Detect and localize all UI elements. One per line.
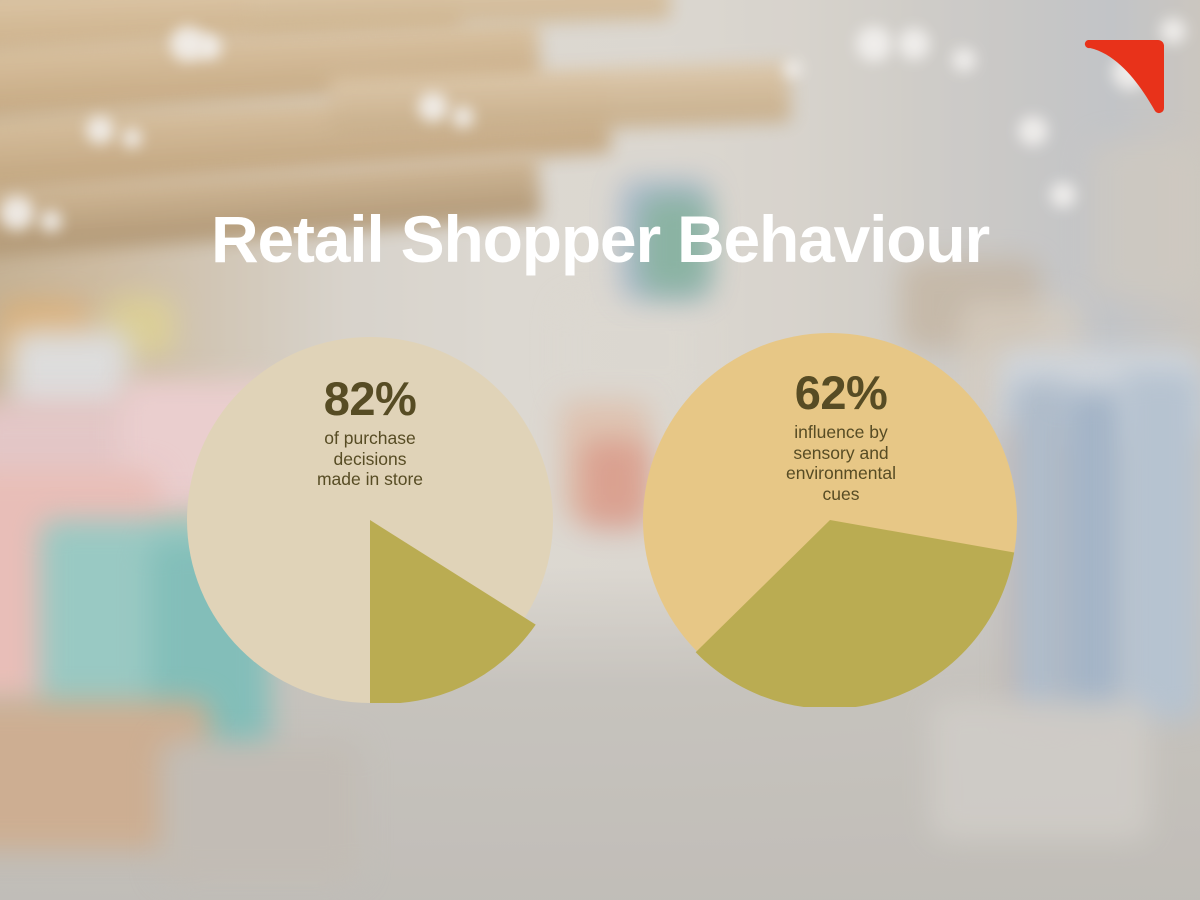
pie-chart-purchase-decisions[interactable]: 82% of purchase decisions made in store xyxy=(187,337,553,703)
pie-chart-sensory-influence[interactable]: 62% influence by sensory and environment… xyxy=(643,333,1017,707)
charts-container: 82% of purchase decisions made in store … xyxy=(0,0,1200,900)
infographic-canvas: Retail Shopper Behaviour 82% of purchase… xyxy=(0,0,1200,900)
